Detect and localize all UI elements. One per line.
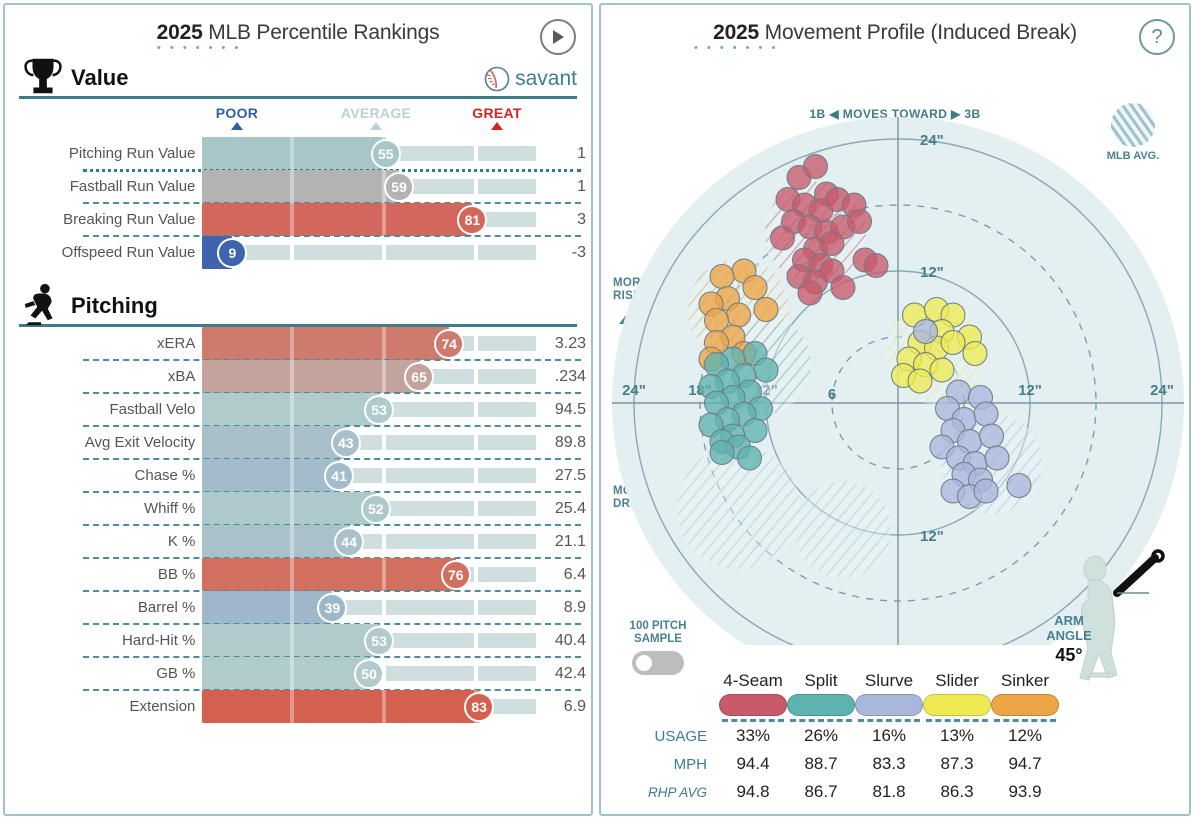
pitch-table-cell: 86.3 — [923, 778, 991, 806]
percentile-value-bubble: 76 — [441, 560, 471, 590]
pitch-data-point — [908, 369, 932, 393]
arm-angle-label: ARM ANGLE — [1033, 613, 1105, 643]
percentile-bar: 83 — [202, 690, 535, 723]
pitch-data-point — [941, 331, 965, 355]
pitch-color-pill — [991, 694, 1059, 716]
percentile-row-label: BB % — [5, 566, 202, 583]
percentile-bar: 9 — [202, 236, 535, 269]
percentile-row[interactable]: Extension836.9 — [5, 690, 591, 723]
percentile-row-stat-value: 27.5 — [536, 467, 591, 485]
percentile-bar: 74 — [202, 327, 535, 360]
trophy-icon — [19, 53, 67, 99]
pitching-rows: xERA743.23xBA65.234Fastball Velo5394.5Av… — [5, 327, 591, 723]
scale-marker-poor — [231, 122, 243, 130]
pitch-color-swatch-cell[interactable] — [787, 694, 855, 722]
percentile-value-bubble: 74 — [434, 329, 464, 359]
pitch-data-point — [754, 358, 778, 382]
pitch-data-point — [848, 210, 872, 234]
pitch-data-point — [820, 232, 844, 256]
percentile-row-stat-value: 1 — [536, 178, 591, 196]
percentile-row-stat-value: .234 — [536, 368, 591, 386]
percentile-row-label: Whiff % — [5, 500, 202, 517]
percentile-rankings-panel: 2025 MLB Percentile Rankings • • • • • •… — [3, 3, 593, 816]
percentile-row[interactable]: GB %5042.4 — [5, 657, 591, 690]
percentile-bar: 41 — [202, 459, 535, 492]
percentile-fill — [202, 170, 399, 203]
scale-marker-average — [370, 122, 382, 130]
arm-angle-value: 45° — [1033, 645, 1105, 666]
percentile-row[interactable]: Barrel %398.9 — [5, 591, 591, 624]
pitch-table-cell: 26% — [787, 722, 855, 750]
percentile-row[interactable]: Avg Exit Velocity4389.8 — [5, 426, 591, 459]
baseball-icon — [484, 66, 510, 92]
pitch-data-point — [914, 320, 938, 344]
pitch-sample-label: 100 PITCH SAMPLE — [615, 620, 701, 646]
percentile-row-label: Breaking Run Value — [5, 211, 202, 228]
pitch-table-cell: 94.8 — [719, 778, 787, 806]
percentile-row-stat-value: 8.9 — [536, 599, 591, 617]
pitch-name-header: Slider — [923, 671, 991, 694]
play-icon — [551, 29, 565, 45]
pitch-table-cell: 33% — [719, 722, 787, 750]
scale-label-average: AVERAGE — [341, 105, 411, 121]
percentile-value-bubble: 81 — [457, 205, 487, 235]
percentile-fill — [202, 459, 339, 492]
pitch-data-point — [798, 281, 822, 305]
pitch-table-cell: 94.7 — [991, 750, 1059, 778]
pitch-color-swatch-cell[interactable] — [719, 694, 787, 722]
percentile-bar: 43 — [202, 426, 535, 459]
percentile-scale-legend: POOR AVERAGE GREAT — [5, 105, 567, 137]
percentile-fill — [202, 624, 379, 657]
pitch-color-swatch-cell[interactable] — [923, 694, 991, 722]
percentile-bar: 53 — [202, 393, 535, 426]
percentile-fill — [202, 657, 369, 690]
percentile-bar: 76 — [202, 558, 535, 591]
percentile-bar: 53 — [202, 624, 535, 657]
pitching-section-header: Pitching — [19, 287, 577, 327]
pitch-table-cell: 93.9 — [991, 778, 1059, 806]
percentile-bar: 81 — [202, 203, 535, 236]
question-mark-icon: ? — [1151, 27, 1162, 47]
pitch-table-cell: 13% — [923, 722, 991, 750]
pitch-data-point — [710, 441, 734, 465]
movement-panel-title: 2025 Movement Profile (Induced Break) — [601, 5, 1189, 45]
percentile-row-stat-value: 6.9 — [536, 698, 591, 716]
percentile-row-label: Pitching Run Value — [5, 145, 202, 162]
value-section-header: Value savant — [19, 59, 577, 99]
percentile-fill — [202, 137, 385, 170]
pitch-table-row-label: MPH — [609, 750, 719, 778]
percentile-title-dots: • • • • • • • — [157, 45, 241, 51]
percentile-fill — [202, 492, 375, 525]
pitch-sample-toggle[interactable]: 100 PITCH SAMPLE — [615, 620, 701, 675]
axis-tick-label: 24" — [622, 382, 646, 399]
pitch-color-pill — [855, 694, 923, 716]
pitch-table-cell: 87.3 — [923, 750, 991, 778]
percentile-row[interactable]: Breaking Run Value813 — [5, 203, 591, 236]
savant-player-dashboard: 2025 MLB Percentile Rankings • • • • • •… — [0, 0, 1200, 819]
percentile-value-bubble: 55 — [371, 139, 401, 169]
pitch-table-cell: 88.7 — [787, 750, 855, 778]
percentile-row-label: K % — [5, 533, 202, 550]
percentile-row[interactable]: xERA743.23 — [5, 327, 591, 360]
pitch-table-cell: 83.3 — [855, 750, 923, 778]
percentile-value-bubble: 39 — [317, 593, 347, 623]
pitch-color-pill — [787, 694, 855, 716]
percentile-fill — [202, 393, 379, 426]
savant-logo-text: savant — [515, 67, 577, 91]
percentile-row[interactable]: xBA65.234 — [5, 360, 591, 393]
pitch-table-cell: 16% — [855, 722, 923, 750]
movement-title-year: 2025 — [713, 21, 759, 44]
percentile-row[interactable]: K %4421.1 — [5, 525, 591, 558]
percentile-value-bubble: 52 — [361, 494, 391, 524]
value-rows: Pitching Run Value551Fastball Run Value5… — [5, 137, 591, 269]
percentile-bar: 50 — [202, 657, 535, 690]
percentile-bar: 44 — [202, 525, 535, 558]
percentile-title-text: MLB Percentile Rankings — [208, 21, 439, 44]
percentile-bar: 52 — [202, 492, 535, 525]
percentile-value-bubble: 44 — [334, 527, 364, 557]
pitch-data-point — [864, 254, 888, 278]
value-section-title: Value — [71, 65, 128, 91]
percentile-bar: 39 — [202, 591, 535, 624]
pitch-data-point — [974, 479, 998, 503]
percentile-row-stat-value: 3 — [536, 211, 591, 229]
percentile-row[interactable]: Whiff %5225.4 — [5, 492, 591, 525]
percentile-value-bubble: 83 — [464, 692, 494, 722]
percentile-value-bubble: 59 — [384, 172, 414, 202]
pitch-data-point — [963, 342, 987, 366]
percentile-value-bubble: 43 — [331, 428, 361, 458]
percentile-fill — [202, 525, 349, 558]
pitch-data-point — [727, 303, 751, 327]
percentile-value-bubble: 53 — [364, 395, 394, 425]
pitch-color-swatch-cell[interactable] — [855, 694, 923, 722]
pitch-color-pill — [719, 694, 787, 716]
arm-angle-graphic: ARM ANGLE 45° — [1031, 545, 1181, 685]
percentile-value-bubble: 9 — [217, 238, 247, 268]
pitch-color-pill — [923, 694, 991, 716]
play-animation-button[interactable] — [540, 19, 576, 55]
percentile-row[interactable]: Hard-Hit %5340.4 — [5, 624, 591, 657]
percentile-row[interactable]: Offspeed Run Value9-3 — [5, 236, 591, 269]
percentile-row-label: xBA — [5, 368, 202, 385]
percentile-title-year: 2025 — [157, 21, 203, 44]
pitch-table-row: MPH94.488.783.387.394.7 — [609, 750, 1059, 778]
movement-profile-panel: 2025 Movement Profile (Induced Break) • … — [599, 3, 1191, 816]
percentile-row-stat-value: 6.4 — [536, 566, 591, 584]
percentile-bar: 59 — [202, 170, 535, 203]
percentile-fill — [202, 558, 455, 591]
percentile-row[interactable]: Fastball Run Value591 — [5, 170, 591, 203]
percentile-row-stat-value: 40.4 — [536, 632, 591, 650]
percentile-row-label: Barrel % — [5, 599, 202, 616]
percentile-fill — [202, 591, 332, 624]
percentile-fill — [202, 360, 419, 393]
percentile-row[interactable]: Fastball Velo5394.5 — [5, 393, 591, 426]
percentile-fill — [202, 203, 472, 236]
percentile-bar: 55 — [202, 137, 535, 170]
arm-angle-readout: ARM ANGLE 45° — [1033, 613, 1105, 666]
pitch-name-header: Sinker — [991, 671, 1059, 694]
percentile-track — [202, 245, 535, 260]
percentile-fill — [202, 327, 449, 360]
pitch-data-point — [738, 446, 762, 470]
pitch-table-cell: 86.7 — [787, 778, 855, 806]
percentile-value-bubble: 50 — [354, 659, 384, 689]
percentile-bar: 65 — [202, 360, 535, 393]
pitch-data-point — [985, 446, 1009, 470]
percentile-row-stat-value: 3.23 — [536, 335, 591, 353]
pitch-data-point — [831, 276, 855, 300]
percentile-row-label: Fastball Velo — [5, 401, 202, 418]
pitch-type-table: 4-SeamSplitSlurveSliderSinker USAGE33%26… — [609, 671, 1059, 806]
axis-tick-label: 12" — [920, 264, 944, 281]
movement-title-text: Movement Profile (Induced Break) — [765, 21, 1077, 44]
percentile-row-label: xERA — [5, 335, 202, 352]
percentile-row-stat-value: -3 — [536, 244, 591, 262]
axis-tick-label: 24" — [920, 132, 944, 149]
percentile-value-bubble: 41 — [324, 461, 354, 491]
scale-marker-great — [491, 122, 503, 130]
pitcher-icon — [19, 281, 67, 327]
percentile-row-label: Extension — [5, 698, 202, 715]
percentile-value-bubble: 65 — [404, 362, 434, 392]
pitch-table-cell: 81.8 — [855, 778, 923, 806]
pitch-name-header: Split — [787, 671, 855, 694]
axis-tick-label: 12" — [1018, 382, 1042, 399]
percentile-row-label: Avg Exit Velocity — [5, 434, 202, 451]
percentile-row-label: Fastball Run Value — [5, 178, 202, 195]
pitch-color-swatch-cell[interactable] — [991, 694, 1059, 722]
percentile-row-label: Chase % — [5, 467, 202, 484]
pitch-name-header: 4-Seam — [719, 671, 787, 694]
axis-tick-label: 24" — [1150, 382, 1174, 399]
pitch-color-swatch-row — [609, 694, 1059, 722]
percentile-row-label: Hard-Hit % — [5, 632, 202, 649]
axis-tick-label: 6 — [828, 386, 836, 403]
pitch-table-row: USAGE33%26%16%13%12% — [609, 722, 1059, 750]
percentile-row-stat-value: 89.8 — [536, 434, 591, 452]
pitch-data-point — [930, 358, 954, 382]
pitch-table-cell: 12% — [991, 722, 1059, 750]
percentile-row-stat-value: 1 — [536, 145, 591, 163]
pitch-data-point — [743, 276, 767, 300]
percentile-row-stat-value: 21.1 — [536, 533, 591, 551]
percentile-panel-title: 2025 MLB Percentile Rankings — [5, 5, 591, 45]
percentile-row-label: GB % — [5, 665, 202, 682]
toggle-knob — [634, 653, 654, 673]
percentile-row[interactable]: Pitching Run Value551 — [5, 137, 591, 170]
percentile-fill — [202, 690, 479, 723]
pitch-table-row-label: RHP AVG — [609, 778, 719, 806]
pitch-data-point — [980, 424, 1004, 448]
pitch-data-point — [710, 265, 734, 289]
percentile-value-bubble: 53 — [364, 626, 394, 656]
pitch-table-row: RHP AVG94.886.781.886.393.9 — [609, 778, 1059, 806]
pitch-table-header-row: 4-SeamSplitSlurveSliderSinker — [609, 671, 1059, 694]
percentile-row[interactable]: Chase %4127.5 — [5, 459, 591, 492]
percentile-row-stat-value: 25.4 — [536, 500, 591, 518]
pitch-table-cell: 94.4 — [719, 750, 787, 778]
pitch-data-point — [804, 155, 828, 179]
percentile-row-stat-value: 94.5 — [536, 401, 591, 419]
axis-tick-label: 12" — [920, 528, 944, 545]
percentile-row[interactable]: BB %766.4 — [5, 558, 591, 591]
movement-chart-area: 1B ◀ MOVES TOWARD ▶ 3B MLB AVG. MORERISE… — [601, 45, 1189, 645]
scale-label-great: GREAT — [472, 105, 521, 121]
percentile-row-label: Offspeed Run Value — [5, 244, 202, 261]
pitch-data-point — [754, 298, 778, 322]
pitch-data-point — [771, 226, 795, 250]
pitch-data-point — [974, 402, 998, 426]
savant-logo: savant — [484, 66, 577, 92]
pitch-name-header: Slurve — [855, 671, 923, 694]
percentile-fill — [202, 426, 345, 459]
scale-label-poor: POOR — [216, 105, 258, 121]
percentile-row-stat-value: 42.4 — [536, 665, 591, 683]
pitch-data-point — [1007, 474, 1031, 498]
pitch-table-body: USAGE33%26%16%13%12%MPH94.488.783.387.39… — [609, 694, 1059, 806]
pitch-table-row-label: USAGE — [609, 722, 719, 750]
pitching-section-title: Pitching — [71, 293, 158, 319]
